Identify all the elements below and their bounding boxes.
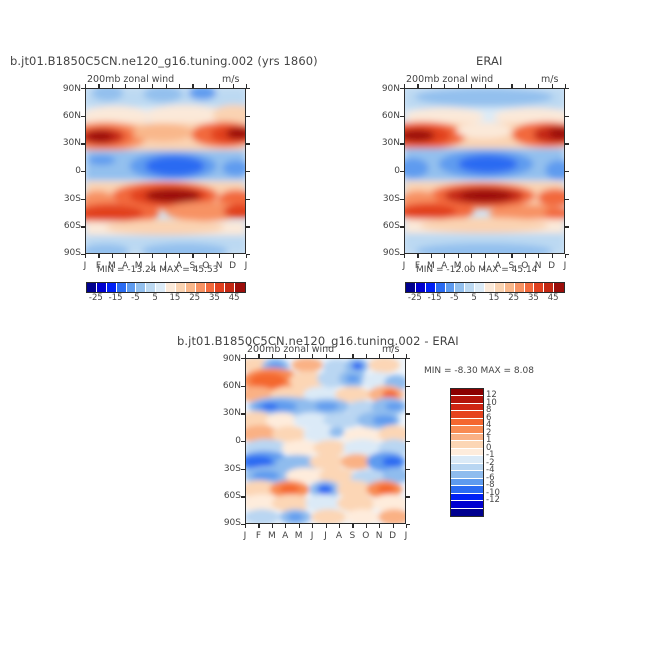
ytick-label-diff-2: 30N	[215, 408, 241, 418]
colorbar-cell-14	[544, 283, 554, 292]
ytick-label-erai-2: 30N	[374, 138, 400, 148]
xtick-erai-top-8	[511, 84, 512, 88]
diff-colorbar-cell-6	[451, 434, 483, 441]
ytick-erai-left-2	[400, 143, 404, 144]
ytick-label-erai-4: 30S	[374, 194, 400, 204]
ytick-label-model-5: 60S	[55, 221, 81, 231]
xtick-model-top-0	[85, 84, 86, 88]
xtick-erai-top-10	[538, 84, 539, 88]
panel-model-subtitle-right: m/s	[222, 74, 239, 85]
xtick-model-bottom-6	[166, 254, 167, 258]
xtick-diff-bottom-4	[299, 524, 300, 528]
colorbar-cell-6	[146, 283, 156, 292]
colorbar-tick-label-7: 45	[548, 293, 559, 303]
xtick-erai-top-0	[404, 84, 405, 88]
ytick-label-erai-6: 90S	[374, 248, 400, 258]
ytick-erai-right-6	[565, 254, 569, 255]
panel-difference-subtitle-left: 200mb zonal wind	[247, 344, 334, 355]
colorbar-tick-label-3: 5	[471, 293, 476, 303]
ytick-label-erai-5: 60S	[374, 221, 400, 231]
colorbar-cell-11	[196, 283, 206, 292]
plot-area-model[interactable]	[85, 88, 246, 254]
colorbar-cell-2	[107, 283, 117, 292]
ytick-model-right-0	[246, 88, 250, 89]
ytick-label-diff-0: 90N	[215, 354, 241, 364]
colorbar-cell-6	[465, 283, 475, 292]
xtick-diff-top-3	[285, 354, 286, 358]
xtick-model-top-11	[233, 84, 234, 88]
ytick-model-left-5	[81, 226, 85, 227]
xtick-model-top-2	[112, 84, 113, 88]
colorbar-difference	[450, 388, 484, 517]
xtick-erai-bottom-4	[458, 254, 459, 258]
diff-colorbar-cell-16	[451, 509, 483, 516]
colorbar-tick-label-0: -25	[408, 293, 422, 303]
xtick-model-bottom-11	[233, 254, 234, 258]
xtick-diff-bottom-11	[393, 524, 394, 528]
colorbar-cell-7	[475, 283, 485, 292]
colorbar-absolute-left	[86, 282, 246, 293]
contour-field-model	[86, 89, 245, 253]
ytick-model-right-1	[246, 116, 250, 117]
xtick-model-bottom-3	[125, 254, 126, 258]
ytick-erai-right-5	[565, 226, 569, 227]
colorbar-tick-label-1: -15	[428, 293, 442, 303]
xtick-erai-bottom-2	[431, 254, 432, 258]
xtick-diff-top-1	[258, 354, 259, 358]
xtick-erai-bottom-9	[525, 254, 526, 258]
ytick-model-right-5	[246, 226, 250, 227]
colorbar-cell-15	[554, 283, 564, 292]
xtick-erai-bottom-7	[498, 254, 499, 258]
ytick-label-diff-4: 30S	[215, 464, 241, 474]
xtick-diff-bottom-10	[379, 524, 380, 528]
ytick-label-erai-0: 90N	[374, 84, 400, 94]
colorbar-cell-10	[186, 283, 196, 292]
xtick-erai-top-1	[417, 84, 418, 88]
ytick-model-left-0	[81, 88, 85, 89]
ytick-diff-left-6	[241, 524, 245, 525]
colorbar-cell-15	[235, 283, 245, 292]
diff-colorbar-cell-12	[451, 479, 483, 486]
xtick-diff-top-11	[393, 354, 394, 358]
diff-colorbar-cell-8	[451, 449, 483, 456]
ytick-label-model-3: 0	[55, 166, 81, 176]
colorbar-cell-10	[505, 283, 515, 292]
colorbar-cell-1	[97, 283, 107, 292]
xtick-erai-top-5	[471, 84, 472, 88]
colorbar-cell-4	[127, 283, 137, 292]
ytick-erai-left-0	[400, 88, 404, 89]
xtick-model-bottom-7	[179, 254, 180, 258]
diff-colorbar-cell-2	[451, 404, 483, 411]
xtick-model-top-3	[125, 84, 126, 88]
ytick-erai-left-3	[400, 171, 404, 172]
ytick-diff-left-0	[241, 358, 245, 359]
diff-colorbar-cell-7	[451, 441, 483, 448]
xtick-label-model-12: J	[236, 261, 256, 271]
xtick-model-top-6	[166, 84, 167, 88]
plot-area-difference[interactable]	[245, 358, 406, 524]
panel-erai-subtitle-left: 200mb zonal wind	[406, 74, 493, 85]
colorbar-tick-label-2: -5	[450, 293, 458, 303]
colorbar-cell-0	[87, 283, 97, 292]
colorbar-cell-12	[206, 283, 216, 292]
diff-colorbar-tick-label-14: -12	[486, 495, 500, 505]
xtick-model-top-5	[152, 84, 153, 88]
contour-field-difference	[246, 359, 405, 523]
diff-colorbar-cell-3	[451, 411, 483, 418]
minmax-difference: MIN = -8.30 MAX = 8.08	[424, 366, 534, 376]
colorbar-tick-label-5: 25	[189, 293, 200, 303]
ytick-model-right-3	[246, 171, 250, 172]
colorbar-absolute-right	[405, 282, 565, 293]
xtick-diff-top-6	[326, 354, 327, 358]
panel-erai-subtitle-right: m/s	[541, 74, 558, 85]
ytick-erai-left-6	[400, 254, 404, 255]
panel-erai-title: ERAI	[476, 54, 502, 68]
colorbar-tick-label-0: -25	[89, 293, 103, 303]
ytick-erai-left-1	[400, 116, 404, 117]
ytick-label-diff-1: 60N	[215, 381, 241, 391]
colorbar-cell-14	[225, 283, 235, 292]
ytick-model-left-1	[81, 116, 85, 117]
ytick-label-model-2: 30N	[55, 138, 81, 148]
diff-colorbar-cell-10	[451, 464, 483, 471]
colorbar-cell-8	[166, 283, 176, 292]
colorbar-cell-12	[525, 283, 535, 292]
xtick-diff-bottom-3	[285, 524, 286, 528]
colorbar-absolute-right-labels: -25-15-5515253545	[405, 293, 563, 305]
xtick-erai-top-6	[485, 84, 486, 88]
colorbar-cell-11	[515, 283, 525, 292]
ytick-diff-right-4	[406, 469, 410, 470]
diff-colorbar-cell-0	[451, 389, 483, 396]
ytick-label-model-6: 90S	[55, 248, 81, 258]
ytick-diff-right-2	[406, 413, 410, 414]
xtick-model-bottom-4	[139, 254, 140, 258]
colorbar-cell-8	[485, 283, 495, 292]
ytick-erai-left-5	[400, 226, 404, 227]
colorbar-cell-7	[156, 283, 166, 292]
colorbar-cell-1	[416, 283, 426, 292]
xtick-erai-top-7	[498, 84, 499, 88]
colorbar-tick-label-7: 45	[229, 293, 240, 303]
xtick-diff-bottom-1	[258, 524, 259, 528]
colorbar-tick-label-4: 15	[488, 293, 499, 303]
colorbar-tick-label-1: -15	[109, 293, 123, 303]
diff-colorbar-cell-14	[451, 494, 483, 501]
xtick-model-bottom-1	[98, 254, 99, 258]
xtick-model-top-8	[192, 84, 193, 88]
plot-area-erai[interactable]	[404, 88, 565, 254]
xtick-diff-bottom-8	[352, 524, 353, 528]
xtick-diff-bottom-6	[326, 524, 327, 528]
xtick-model-top-10	[219, 84, 220, 88]
ytick-diff-left-5	[241, 496, 245, 497]
xtick-diff-top-10	[379, 354, 380, 358]
xtick-diff-top-7	[339, 354, 340, 358]
xtick-diff-top-5	[312, 354, 313, 358]
xtick-model-bottom-9	[206, 254, 207, 258]
diff-colorbar-cell-5	[451, 426, 483, 433]
colorbar-cell-3	[436, 283, 446, 292]
panel-model-subtitle-left: 200mb zonal wind	[87, 74, 174, 85]
colorbar-cell-9	[176, 283, 186, 292]
ytick-diff-right-0	[406, 358, 410, 359]
xtick-label-diff-12: J	[396, 531, 416, 541]
ytick-diff-left-4	[241, 469, 245, 470]
ytick-label-diff-5: 60S	[215, 491, 241, 501]
colorbar-tick-label-3: 5	[152, 293, 157, 303]
xtick-erai-bottom-1	[417, 254, 418, 258]
diff-colorbar-cell-1	[451, 396, 483, 403]
ytick-erai-right-0	[565, 88, 569, 89]
xtick-erai-top-3	[444, 84, 445, 88]
colorbar-cell-9	[495, 283, 505, 292]
ytick-model-left-2	[81, 143, 85, 144]
xtick-diff-bottom-7	[339, 524, 340, 528]
ytick-label-diff-3: 0	[215, 436, 241, 446]
ytick-erai-right-2	[565, 143, 569, 144]
xtick-diff-bottom-9	[366, 524, 367, 528]
colorbar-cell-5	[455, 283, 465, 292]
ytick-label-diff-6: 90S	[215, 518, 241, 528]
diff-colorbar-cell-11	[451, 471, 483, 478]
xtick-model-top-1	[98, 84, 99, 88]
ytick-erai-right-1	[565, 116, 569, 117]
panel-model-title: b.jt01.B1850C5CN.ne120_g16.tuning.002 (y…	[10, 54, 318, 68]
diff-colorbar-cell-13	[451, 486, 483, 493]
ytick-model-right-4	[246, 199, 250, 200]
xtick-diff-top-0	[245, 354, 246, 358]
colorbar-tick-label-4: 15	[169, 293, 180, 303]
ytick-model-left-6	[81, 254, 85, 255]
panel-difference-subtitle-right: m/s	[382, 344, 399, 355]
ytick-diff-left-2	[241, 413, 245, 414]
ytick-model-left-4	[81, 199, 85, 200]
contour-field-erai	[405, 89, 564, 253]
colorbar-tick-label-6: 35	[209, 293, 220, 303]
ytick-erai-left-4	[400, 199, 404, 200]
xtick-model-bottom-2	[112, 254, 113, 258]
xtick-model-top-7	[179, 84, 180, 88]
xtick-model-bottom-8	[192, 254, 193, 258]
xtick-erai-bottom-0	[404, 254, 405, 258]
xtick-erai-bottom-10	[538, 254, 539, 258]
ytick-label-model-0: 90N	[55, 84, 81, 94]
ytick-label-model-1: 60N	[55, 111, 81, 121]
colorbar-difference-labels: 1210864210-1-2-4-6-8-10-12	[486, 388, 520, 515]
xtick-model-bottom-0	[85, 254, 86, 258]
colorbar-tick-label-6: 35	[528, 293, 539, 303]
colorbar-tick-label-2: -5	[131, 293, 139, 303]
xtick-erai-bottom-11	[552, 254, 553, 258]
xtick-model-top-4	[139, 84, 140, 88]
diff-colorbar-cell-4	[451, 419, 483, 426]
diff-colorbar-cell-15	[451, 501, 483, 508]
colorbar-cell-13	[215, 283, 225, 292]
ytick-diff-right-6	[406, 524, 410, 525]
xtick-diff-bottom-2	[272, 524, 273, 528]
xtick-erai-bottom-3	[444, 254, 445, 258]
ytick-model-right-2	[246, 143, 250, 144]
colorbar-cell-4	[446, 283, 456, 292]
ytick-model-right-6	[246, 254, 250, 255]
ytick-erai-right-3	[565, 171, 569, 172]
xtick-erai-bottom-5	[471, 254, 472, 258]
xtick-erai-bottom-8	[511, 254, 512, 258]
colorbar-cell-5	[136, 283, 146, 292]
xtick-erai-bottom-6	[485, 254, 486, 258]
xtick-diff-top-8	[352, 354, 353, 358]
xtick-erai-top-9	[525, 84, 526, 88]
ytick-diff-right-3	[406, 441, 410, 442]
xtick-label-erai-12: J	[555, 261, 575, 271]
ytick-label-model-4: 30S	[55, 194, 81, 204]
diff-colorbar-cell-9	[451, 456, 483, 463]
xtick-diff-top-2	[272, 354, 273, 358]
xtick-erai-top-2	[431, 84, 432, 88]
ytick-diff-left-1	[241, 386, 245, 387]
ytick-label-erai-3: 0	[374, 166, 400, 176]
colorbar-cell-13	[534, 283, 544, 292]
xtick-model-bottom-10	[219, 254, 220, 258]
ytick-diff-left-3	[241, 441, 245, 442]
colorbar-cell-3	[117, 283, 127, 292]
ytick-model-left-3	[81, 171, 85, 172]
colorbar-absolute-left-labels: -25-15-5515253545	[86, 293, 244, 305]
xtick-erai-top-4	[458, 84, 459, 88]
ytick-erai-right-4	[565, 199, 569, 200]
xtick-erai-top-11	[552, 84, 553, 88]
ytick-diff-right-1	[406, 386, 410, 387]
xtick-diff-bottom-0	[245, 524, 246, 528]
xtick-diff-top-4	[299, 354, 300, 358]
colorbar-tick-label-5: 25	[508, 293, 519, 303]
ytick-diff-right-5	[406, 496, 410, 497]
ytick-label-erai-1: 60N	[374, 111, 400, 121]
xtick-model-bottom-5	[152, 254, 153, 258]
colorbar-cell-0	[406, 283, 416, 292]
xtick-diff-bottom-5	[312, 524, 313, 528]
xtick-model-top-9	[206, 84, 207, 88]
xtick-diff-top-9	[366, 354, 367, 358]
colorbar-cell-2	[426, 283, 436, 292]
